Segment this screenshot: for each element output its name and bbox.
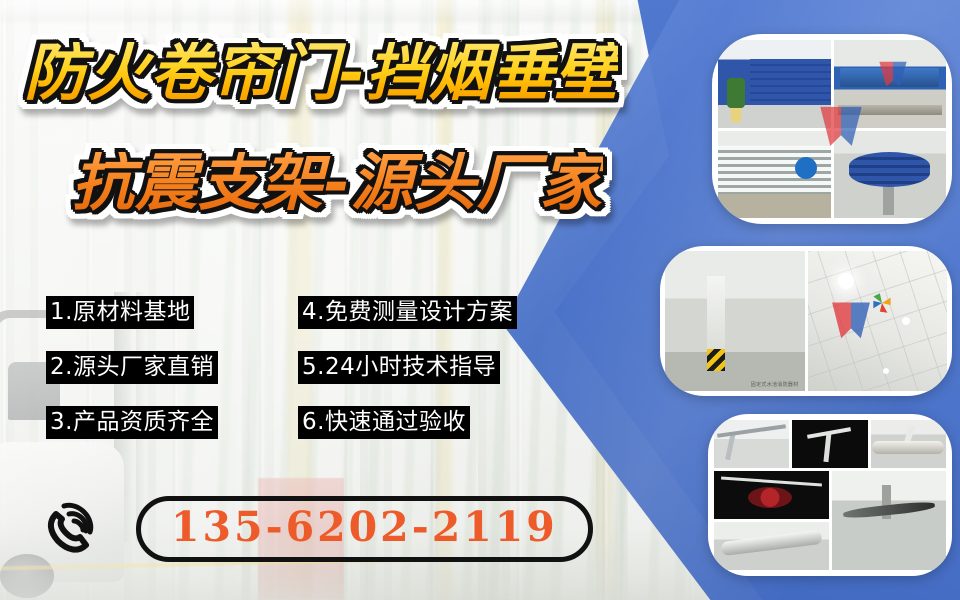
photo-pipe-hanger-bracket [714, 420, 789, 468]
feature-cell: 3.产品资质齐全 [46, 406, 298, 439]
advertisement-banner: STILL RX20 防火卷帘门-挡烟垂壁 抗震支架-源头厂家 1.原材料基地 … [0, 0, 960, 600]
feature-row: 1.原材料基地 4.免费测量设计方案 [46, 296, 566, 329]
contact-phone-row[interactable]: 135-6202-2119 [44, 492, 593, 566]
feature-row: 2.源头厂家直销 5.24小时技术指导 [46, 351, 566, 384]
photo-ceiling-sprinkler-lighting [808, 251, 948, 391]
photo-steel-rolling-shutter-interior [718, 131, 831, 219]
phone-number-box[interactable]: 135-6202-2119 [136, 496, 593, 563]
feature-item-6: 6.快速通过验收 [298, 406, 470, 439]
feature-cell: 4.免费测量设计方案 [298, 296, 550, 329]
feature-item-4: 4.免费测量设计方案 [298, 296, 517, 329]
photo-pipe-clamp-support [871, 420, 946, 468]
photo-duct-bracing-detail [714, 522, 829, 570]
photo-fan-duct-brace [714, 471, 829, 519]
phone-number: 135-6202-2119 [171, 503, 558, 551]
pinwheel-decoration [869, 290, 895, 316]
photo-caption: 固定式水池消防器材 [751, 381, 799, 388]
fire-shutter-door-collage[interactable] [712, 34, 952, 224]
seismic-bracing-collage[interactable] [708, 414, 952, 576]
photo-grid [714, 420, 946, 570]
photo-ceiling-fan-mount [832, 471, 947, 570]
feature-cell: 5.24小时技术指导 [298, 351, 550, 384]
feature-cell: 1.原材料基地 [46, 296, 298, 329]
feature-cell: 6.快速通过验收 [298, 406, 550, 439]
photo-underground-garage-columns: 固定式水池消防器材 [665, 251, 805, 391]
project-site-collage[interactable]: 固定式水池消防器材 [660, 246, 952, 396]
photo-grid [718, 40, 946, 218]
feature-item-5: 5.24小时技术指导 [298, 351, 500, 384]
feature-item-1: 1.原材料基地 [46, 296, 194, 329]
photo-grid: 固定式水池消防器材 [665, 251, 947, 391]
photo-blue-rolling-shutter-door [718, 40, 831, 128]
photo-blue-door-roll-assembly [834, 131, 947, 219]
headline-secondary: 抗震支架-源头厂家 [72, 152, 603, 214]
feature-item-2: 2.源头厂家直销 [46, 351, 218, 384]
photo-black-background-brace [792, 420, 867, 468]
feature-row: 3.产品资质齐全 6.快速通过验收 [46, 406, 566, 439]
feature-list: 1.原材料基地 4.免费测量设计方案 2.源头厂家直销 5.24小时技术指导 3… [46, 296, 566, 461]
phone-ringing-icon [44, 492, 118, 566]
headline-primary: 防火卷帘门-挡烟垂壁 [24, 42, 618, 104]
photo-shutter-production-machine [834, 40, 947, 128]
feature-cell: 2.源头厂家直销 [46, 351, 298, 384]
feature-item-3: 3.产品资质齐全 [46, 406, 218, 439]
